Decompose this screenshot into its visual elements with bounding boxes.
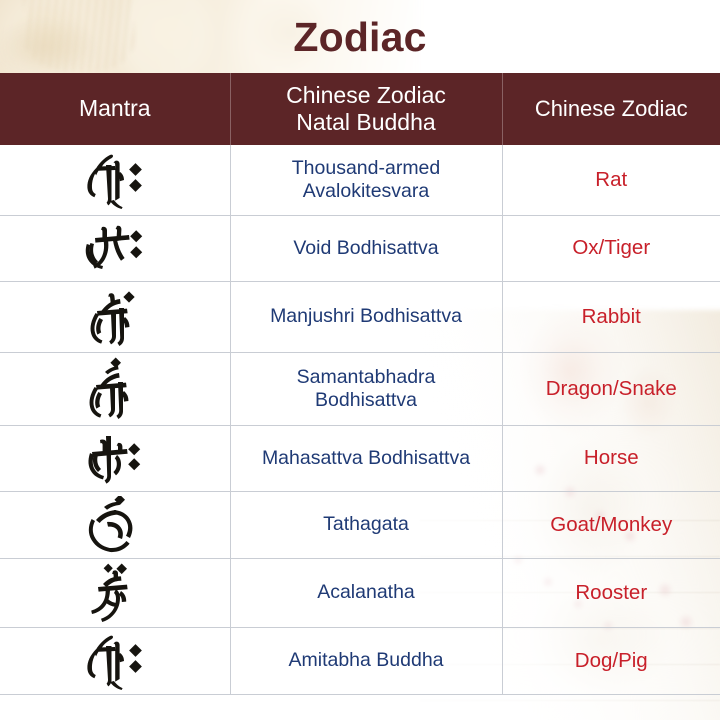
natal-buddha-line: Acalanatha (239, 581, 494, 604)
siddham-bija-man-icon (8, 286, 222, 348)
table-row: TathagataGoat/Monkey (0, 491, 720, 558)
natal-buddha-line: Manjushri Bodhisattva (239, 305, 494, 328)
cell-chinese-zodiac: Goat/Monkey (502, 491, 720, 558)
chinese-zodiac-value: Dog/Pig (511, 649, 713, 673)
cell-natal-buddha: Amitabha Buddha (230, 627, 502, 694)
chinese-zodiac-value: Goat/Monkey (511, 513, 713, 537)
siddham-bija-vam-icon (8, 496, 222, 554)
natal-buddha-line: Avalokitesvara (239, 180, 494, 203)
table-row: Void BodhisattvaOx/Tiger (0, 215, 720, 281)
cell-natal-buddha: SamantabhadraBodhisattva (230, 352, 502, 425)
chinese-zodiac-value: Dragon/Snake (511, 377, 713, 401)
page-title: Zodiac (293, 17, 426, 58)
chinese-zodiac-value: Horse (511, 446, 713, 470)
chinese-zodiac-value: Rabbit (511, 305, 713, 329)
cell-natal-buddha: Thousand-armedAvalokitesvara (230, 145, 502, 215)
siddham-bija-am-icon (8, 357, 222, 421)
siddham-bija-ham-icon (8, 563, 222, 623)
title-bar: Zodiac (0, 0, 720, 73)
table-row: Manjushri BodhisattvaRabbit (0, 281, 720, 352)
table-body: Thousand-armedAvalokitesvaraRat Void Bod… (0, 145, 720, 694)
table-row: AcalanathaRooster (0, 558, 720, 627)
cell-chinese-zodiac: Dragon/Snake (502, 352, 720, 425)
table-row: Thousand-armedAvalokitesvaraRat (0, 145, 720, 215)
zodiac-table: Mantra Chinese Zodiac Natal Buddha Chine… (0, 73, 720, 695)
siddham-bija-sa-icon (8, 432, 222, 484)
cell-natal-buddha: Void Bodhisattva (230, 215, 502, 281)
natal-buddha-line: Void Bodhisattva (239, 237, 494, 260)
column-header-chinese-zodiac: Chinese Zodiac (502, 73, 720, 145)
natal-buddha-line: Samantabhadra (239, 366, 494, 389)
column-header-natal-buddha-line2: Natal Buddha (237, 109, 496, 136)
cell-mantra (0, 558, 230, 627)
natal-buddha-line: Tathagata (239, 513, 494, 536)
cell-mantra (0, 627, 230, 694)
table-header: Mantra Chinese Zodiac Natal Buddha Chine… (0, 73, 720, 145)
cell-natal-buddha: Tathagata (230, 491, 502, 558)
cell-natal-buddha: Acalanatha (230, 558, 502, 627)
cell-mantra (0, 281, 230, 352)
natal-buddha-line: Amitabha Buddha (239, 649, 494, 672)
siddham-bija-hrih-icon (8, 151, 222, 209)
chinese-zodiac-value: Rooster (511, 581, 713, 605)
table-header-row: Mantra Chinese Zodiac Natal Buddha Chine… (0, 73, 720, 145)
column-header-natal-buddha: Chinese Zodiac Natal Buddha (230, 73, 502, 145)
cell-mantra (0, 491, 230, 558)
cell-mantra (0, 215, 230, 281)
cell-chinese-zodiac: Ox/Tiger (502, 215, 720, 281)
column-header-mantra: Mantra (0, 73, 230, 145)
cell-mantra (0, 425, 230, 491)
chinese-zodiac-value: Ox/Tiger (511, 236, 713, 260)
siddham-bija-trah-icon (8, 222, 222, 274)
siddham-bija-hrih-icon (8, 632, 222, 690)
natal-buddha-line: Mahasattva Bodhisattva (239, 447, 494, 470)
cell-mantra (0, 145, 230, 215)
column-header-natal-buddha-line1: Chinese Zodiac (237, 82, 496, 109)
cell-chinese-zodiac: Dog/Pig (502, 627, 720, 694)
table-row: Amitabha BuddhaDog/Pig (0, 627, 720, 694)
cell-chinese-zodiac: Rooster (502, 558, 720, 627)
table-row: Mahasattva BodhisattvaHorse (0, 425, 720, 491)
chinese-zodiac-value: Rat (511, 168, 713, 192)
column-header-mantra-line1: Mantra (6, 95, 224, 122)
cell-chinese-zodiac: Rat (502, 145, 720, 215)
table-row: SamantabhadraBodhisattvaDragon/Snake (0, 352, 720, 425)
natal-buddha-line: Bodhisattva (239, 389, 494, 412)
cell-mantra (0, 352, 230, 425)
natal-buddha-line: Thousand-armed (239, 157, 494, 180)
cell-natal-buddha: Manjushri Bodhisattva (230, 281, 502, 352)
cell-chinese-zodiac: Horse (502, 425, 720, 491)
cell-chinese-zodiac: Rabbit (502, 281, 720, 352)
column-header-chinese-zodiac-line1: Chinese Zodiac (509, 96, 715, 122)
cell-natal-buddha: Mahasattva Bodhisattva (230, 425, 502, 491)
